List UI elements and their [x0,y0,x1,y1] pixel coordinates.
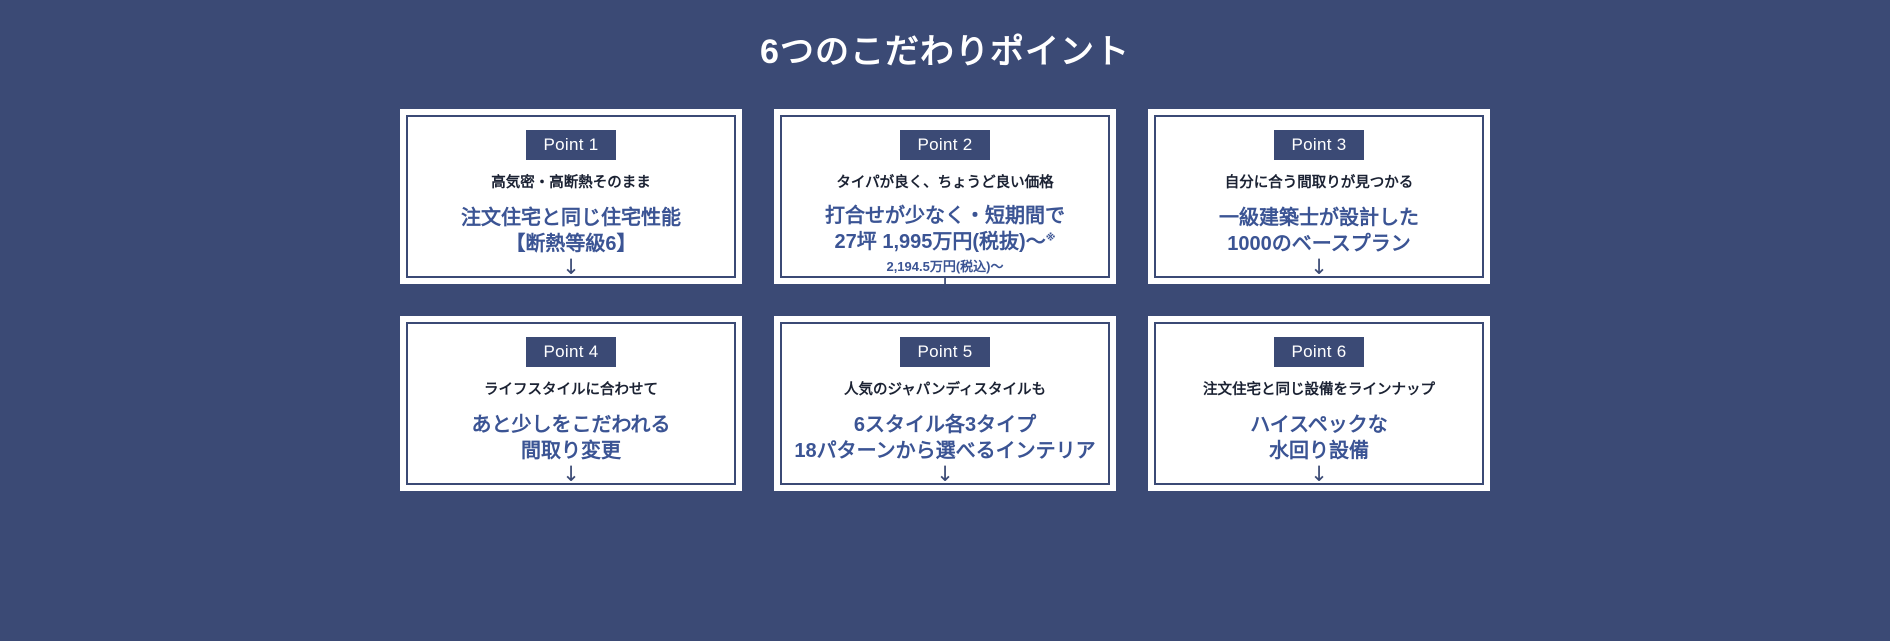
point-badge-3: Point 3 [1274,130,1363,160]
point-headline-6: ハイスペックな 水回り設備 [1250,412,1388,465]
point-headline-5-line2: 18パターンから選べるインテリア [794,438,1095,464]
page-title: 6つのこだわりポイント [760,30,1130,74]
point-headline-4-line1: あと少しをこだわれる [472,412,671,438]
point-card-5[interactable]: Point 5 人気のジャパンディスタイルも 6スタイル各3タイプ 18パターン… [774,316,1116,491]
point-headline-5: 6スタイル各3タイプ 18パターンから選べるインテリア [794,412,1095,465]
point-card-1[interactable]: Point 1 高気密・高断熱そのまま 注文住宅と同じ住宅性能 【断熱等級6】 … [400,109,742,284]
point-headline-2-line2: 27坪 1,995万円(税抜)〜※ [825,229,1065,255]
point-card-3-inner: Point 3 自分に合う間取りが見つかる 一級建築士が設計した 1000のベー… [1154,115,1484,278]
point-card-4[interactable]: Point 4 ライフスタイルに合わせて あと少しをこだわれる 間取り変更 ↓ [400,316,742,491]
reference-mark-icon: ※ [1046,232,1056,243]
point-lead-5: 人気のジャパンディスタイルも [844,382,1046,399]
point-headline-1-line1: 注文住宅と同じ住宅性能 [461,205,681,231]
point-headline-6-line1: ハイスペックな [1250,412,1388,438]
point-badge-4: Point 4 [526,337,615,367]
points-card-grid: Point 1 高気密・高断熱そのまま 注文住宅と同じ住宅性能 【断熱等級6】 … [400,109,1490,491]
point-badge-5: Point 5 [900,337,989,367]
point-card-2-inner: Point 2 タイパが良く、ちょうど良い価格 打合せが少なく・短期間で 27坪… [780,115,1110,278]
point-lead-3: 自分に合う間取りが見つかる [1225,175,1414,192]
point-headline-2-price: 27坪 1,995万円(税抜)〜 [835,231,1046,253]
point-headline-3-line2: 1000のベースプラン [1219,231,1419,257]
point-card-6-inner: Point 6 注文住宅と同じ設備をラインナップ ハイスペックな 水回り設備 ↓ [1154,322,1484,485]
point-headline-4: あと少しをこだわれる 間取り変更 [472,412,671,465]
point-card-2[interactable]: Point 2 タイパが良く、ちょうど良い価格 打合せが少なく・短期間で 27坪… [774,109,1116,284]
point-badge-6: Point 6 [1274,337,1363,367]
down-arrow-icon[interactable]: ↓ [1310,257,1328,278]
point-headline-2: 打合せが少なく・短期間で 27坪 1,995万円(税抜)〜※ [825,203,1065,256]
point-lead-6: 注文住宅と同じ設備をラインナップ [1203,382,1435,399]
point-card-3[interactable]: Point 3 自分に合う間取りが見つかる 一級建築士が設計した 1000のベー… [1148,109,1490,284]
down-arrow-icon[interactable]: ↓ [1310,464,1328,485]
down-arrow-icon[interactable]: ↓ [936,464,954,485]
point-headline-1-line2: 【断熱等級6】 [461,231,681,257]
point-card-1-inner: Point 1 高気密・高断熱そのまま 注文住宅と同じ住宅性能 【断熱等級6】 … [406,115,736,278]
point-lead-4: ライフスタイルに合わせて [484,382,658,399]
point-headline-1: 注文住宅と同じ住宅性能 【断熱等級6】 [461,205,681,258]
point-card-5-inner: Point 5 人気のジャパンディスタイルも 6スタイル各3タイプ 18パターン… [780,322,1110,485]
point-card-6[interactable]: Point 6 注文住宅と同じ設備をラインナップ ハイスペックな 水回り設備 ↓ [1148,316,1490,491]
down-arrow-icon[interactable]: ↓ [562,464,580,485]
point-lead-1: 高気密・高断熱そのまま [491,175,651,192]
down-arrow-icon[interactable]: ↓ [936,275,954,296]
point-card-4-inner: Point 4 ライフスタイルに合わせて あと少しをこだわれる 間取り変更 ↓ [406,322,736,485]
point-badge-2: Point 2 [900,130,989,160]
point-headline-5-line1: 6スタイル各3タイプ [794,412,1095,438]
point-badge-1: Point 1 [526,130,615,160]
point-headline-2-line1: 打合せが少なく・短期間で [825,203,1065,229]
point-headline-4-line2: 間取り変更 [472,438,671,464]
point-headline-6-line2: 水回り設備 [1250,438,1388,464]
points-section: 6つのこだわりポイント Point 1 高気密・高断熱そのまま 注文住宅と同じ住… [0,0,1890,641]
point-headline-3: 一級建築士が設計した 1000のベースプラン [1219,205,1419,258]
down-arrow-icon[interactable]: ↓ [562,257,580,278]
point-headline-3-line1: 一級建築士が設計した [1219,205,1419,231]
point-lead-2: タイパが良く、ちょうど良い価格 [836,175,1053,192]
